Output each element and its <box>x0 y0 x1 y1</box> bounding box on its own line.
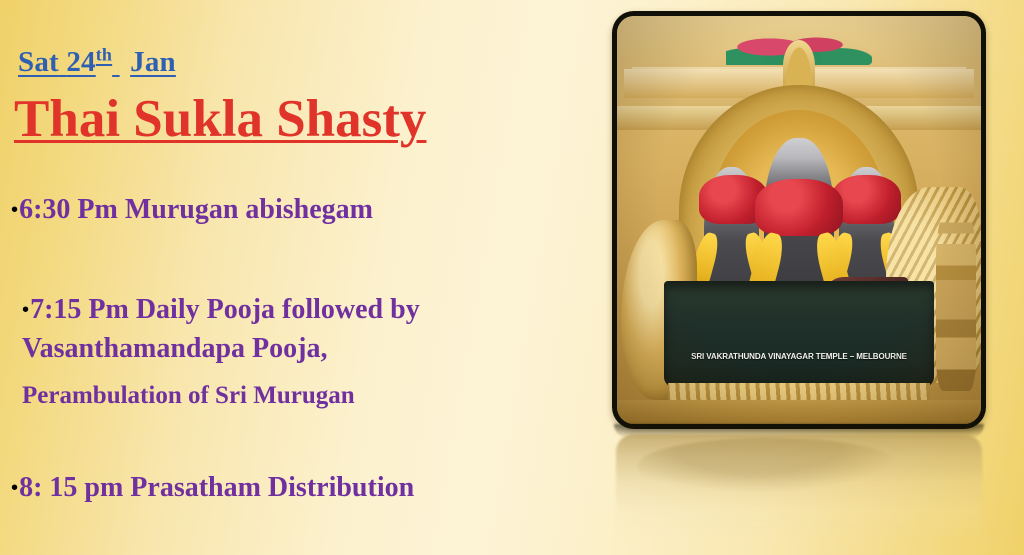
schedule-item-2-line1-wrap: •7:15 Pm Daily Pooja followed by <box>11 291 420 330</box>
bullet-dot-icon: • <box>22 297 29 325</box>
green-velvet-drape <box>664 281 933 387</box>
schedule-item-2-line3: Perambulation of Sri Murugan <box>22 381 355 411</box>
date-heading-ordinal: th <box>96 44 112 64</box>
date-heading-weekday: Sat <box>18 46 59 78</box>
photo-mirror-reflection <box>616 434 982 538</box>
schedule-item-1-text: 6:30 Pm Murugan abishegam <box>19 194 373 225</box>
schedule-item-2: •7:15 Pm Daily Pooja followed by Vasanth… <box>11 291 420 368</box>
temple-photo: SRI VAKRATHUNDA VINAYAGAR TEMPLE – MELBO… <box>612 11 986 429</box>
event-slide: Sat 24th Jan Thai Sukla Shasty •6:30 Pm … <box>0 0 1024 555</box>
schedule-item-3-text: 8: 15 pm Prasatham Distribution <box>19 472 414 503</box>
garland-red-center <box>755 179 842 236</box>
shrine-floor <box>617 400 981 424</box>
bullet-dot-icon: • <box>11 477 18 500</box>
photo-content: SRI VAKRATHUNDA VINAYAGAR TEMPLE – MELBO… <box>617 16 981 424</box>
page-title: Thai Sukla Shasty <box>14 91 426 148</box>
bullet-dot-icon: • <box>11 199 18 222</box>
date-heading-month: Jan <box>130 46 176 78</box>
date-heading-day: 24 <box>66 46 95 78</box>
brass-oil-lamp <box>936 212 976 392</box>
schedule-item-2-line2: Vasanthamandapa Pooja, <box>11 330 420 369</box>
schedule-item-1: •6:30 Pm Murugan abishegam <box>11 194 373 225</box>
text-column: Sat 24th Jan Thai Sukla Shasty •6:30 Pm … <box>0 0 600 555</box>
date-heading: Sat 24th Jan <box>18 47 176 77</box>
schedule-item-3: •8: 15 pm Prasatham Distribution <box>11 472 414 503</box>
photo-frame: SRI VAKRATHUNDA VINAYAGAR TEMPLE – MELBO… <box>612 11 986 429</box>
schedule-item-2-line1: 7:15 Pm Daily Pooja followed by <box>30 294 420 325</box>
photo-caption: SRI VAKRATHUNDA VINAYAGAR TEMPLE – MELBO… <box>617 352 981 361</box>
